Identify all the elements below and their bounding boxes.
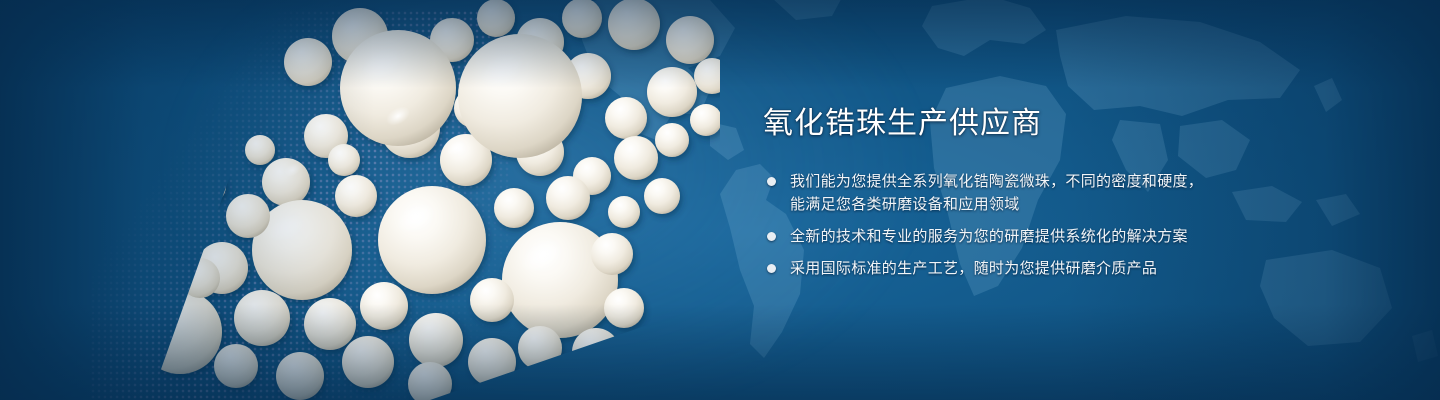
list-item: 采用国际标准的生产工艺，随时为您提供研磨介质产品 — [763, 257, 1403, 280]
hero-banner: 氧化锆珠生产供应商 我们能为您提供全系列氧化锆陶瓷微珠，不同的密度和硬度， 能满… — [0, 0, 1440, 400]
banner-copy: 氧化锆珠生产供应商 我们能为您提供全系列氧化锆陶瓷微珠，不同的密度和硬度， 能满… — [763, 104, 1403, 280]
bullet-dot-icon — [767, 264, 776, 273]
list-item-line: 全新的技术和专业的服务为您的研磨提供系统化的解决方案 — [790, 225, 1403, 248]
bullet-dot-icon — [767, 232, 776, 241]
list-item-line: 我们能为您提供全系列氧化锆陶瓷微珠，不同的密度和硬度， — [790, 170, 1403, 193]
list-item: 我们能为您提供全系列氧化锆陶瓷微珠，不同的密度和硬度， 能满足您各类研磨设备和应… — [763, 170, 1403, 216]
list-item: 全新的技术和专业的服务为您的研磨提供系统化的解决方案 — [763, 225, 1403, 248]
bullet-dot-icon — [767, 177, 776, 186]
page-title: 氧化锆珠生产供应商 — [763, 104, 1403, 144]
feature-list: 我们能为您提供全系列氧化锆陶瓷微珠，不同的密度和硬度， 能满足您各类研磨设备和应… — [763, 170, 1403, 280]
list-item-line: 能满足您各类研磨设备和应用领域 — [790, 193, 1403, 216]
list-item-line: 采用国际标准的生产工艺，随时为您提供研磨介质产品 — [790, 257, 1403, 280]
